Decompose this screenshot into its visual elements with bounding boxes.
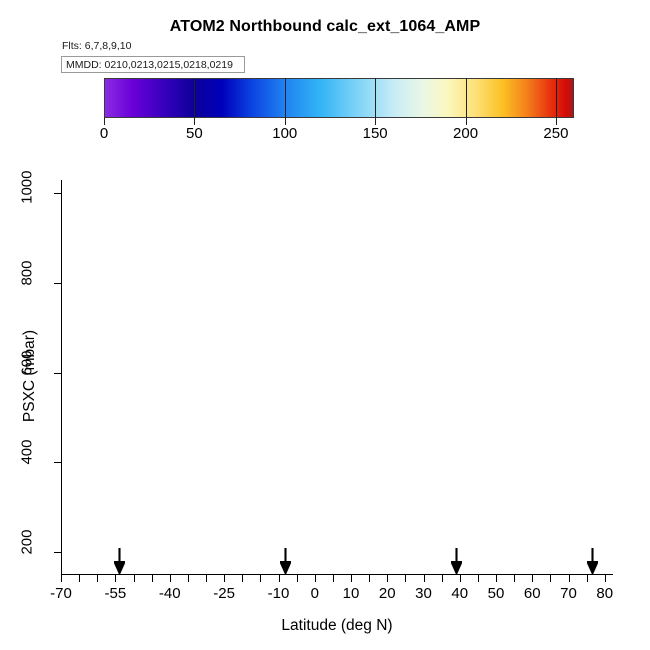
x-axis-tick <box>405 575 406 582</box>
x-axis-tick <box>279 575 280 582</box>
x-axis-tick <box>460 575 461 582</box>
colorbar-tick-mark <box>556 118 557 125</box>
x-axis-tick <box>170 575 171 582</box>
x-axis-tick <box>532 575 533 582</box>
colorbar-tick-label: 150 <box>363 125 388 142</box>
x-axis-tick <box>260 575 261 582</box>
x-axis-tick <box>478 575 479 582</box>
x-axis-tick-label: -25 <box>213 585 235 602</box>
y-axis-tick-label: 800 <box>19 260 36 304</box>
x-axis-tick <box>569 575 570 582</box>
x-axis-tick <box>315 575 316 582</box>
colorbar-tick-mark <box>466 118 467 125</box>
x-axis-tick-label: 70 <box>560 585 577 602</box>
x-axis-tick <box>224 575 225 582</box>
x-axis-tick-label: -70 <box>50 585 72 602</box>
x-axis-tick <box>188 575 189 582</box>
x-axis-tick <box>242 575 243 582</box>
page-title: ATOM2 Northbound calc_ext_1064_AMP <box>0 18 650 36</box>
flight-marker-arrow <box>280 548 291 574</box>
x-axis-tick <box>496 575 497 582</box>
x-axis-tick <box>79 575 80 582</box>
y-axis-tick-label: 400 <box>19 440 36 484</box>
x-axis-title: Latitude (deg N) <box>61 617 613 635</box>
x-axis-tick <box>514 575 515 582</box>
x-axis-tick <box>297 575 298 582</box>
x-axis-tick-label: 50 <box>488 585 505 602</box>
x-axis-tick <box>424 575 425 582</box>
x-axis-tick <box>61 575 62 582</box>
colorbar-tick-mark <box>104 118 105 125</box>
x-axis-tick <box>152 575 153 582</box>
plot-page: ATOM2 Northbound calc_ext_1064_AMP Flts:… <box>0 0 650 650</box>
x-axis-tick <box>387 575 388 582</box>
x-axis-tick-label: 60 <box>524 585 541 602</box>
colorbar-tick <box>375 78 376 118</box>
x-axis-tick <box>442 575 443 582</box>
y-axis-tick <box>54 283 61 284</box>
y-axis-title: PSXC (mbar) <box>21 316 39 436</box>
colorbar-tick-label: 250 <box>543 125 568 142</box>
flights-label: Flts: 6,7,8,9,10 <box>62 40 131 52</box>
y-axis-tick <box>54 193 61 194</box>
x-axis-tick-label: 30 <box>415 585 432 602</box>
y-axis-tick-label: 1000 <box>19 171 36 215</box>
x-axis-tick <box>97 575 98 582</box>
x-axis-tick <box>115 575 116 582</box>
colorbar-tick <box>194 78 195 118</box>
x-axis-tick <box>206 575 207 582</box>
x-axis-tick-label: 10 <box>343 585 360 602</box>
colorbar-tick-mark <box>194 118 195 125</box>
colorbar-tick-mark <box>375 118 376 125</box>
colorbar-tick-label: 0 <box>100 125 108 142</box>
colorbar-tick <box>556 78 557 118</box>
y-axis-line <box>61 180 62 575</box>
colorbar-tick-label: 50 <box>186 125 203 142</box>
colorbar-tick <box>466 78 467 118</box>
colorbar-bar <box>104 78 574 118</box>
y-axis-tick <box>54 373 61 374</box>
y-axis-tick-label: 200 <box>19 529 36 573</box>
colorbar-tick-label: 100 <box>272 125 297 142</box>
x-axis-tick <box>605 575 606 582</box>
colorbar-tick <box>285 78 286 118</box>
colorbar-tick-label: 200 <box>453 125 478 142</box>
x-axis-tick <box>369 575 370 582</box>
plot-area: 2004006008001000 -70-55-40-25-1001020304… <box>61 180 613 575</box>
x-axis-tick-label: -10 <box>268 585 290 602</box>
x-axis-line <box>61 574 613 575</box>
x-axis-tick-label: 20 <box>379 585 396 602</box>
x-axis-tick <box>351 575 352 582</box>
y-axis-tick <box>54 462 61 463</box>
flight-marker-arrow <box>587 548 598 574</box>
y-axis-tick <box>54 552 61 553</box>
flight-marker-arrow <box>451 548 462 574</box>
flight-marker-arrow <box>114 548 125 574</box>
x-axis-tick-label: 40 <box>451 585 468 602</box>
x-axis-tick-label: 80 <box>596 585 613 602</box>
x-axis-tick <box>587 575 588 582</box>
colorbar-tick-mark <box>285 118 286 125</box>
colorbar: 050100150200250 <box>104 78 574 118</box>
dates-box: MMDD: 0210,0213,0215,0218,0219 <box>61 56 245 73</box>
curtain-plot <box>62 180 613 574</box>
x-axis-tick-label: 0 <box>311 585 319 602</box>
x-axis-tick <box>333 575 334 582</box>
x-axis-tick-label: -40 <box>159 585 181 602</box>
x-axis-tick <box>550 575 551 582</box>
dates-label: MMDD: 0210,0213,0215,0218,0219 <box>66 59 233 71</box>
x-axis-tick-label: -55 <box>105 585 127 602</box>
x-axis-tick <box>134 575 135 582</box>
colorbar-gradient <box>105 79 573 117</box>
